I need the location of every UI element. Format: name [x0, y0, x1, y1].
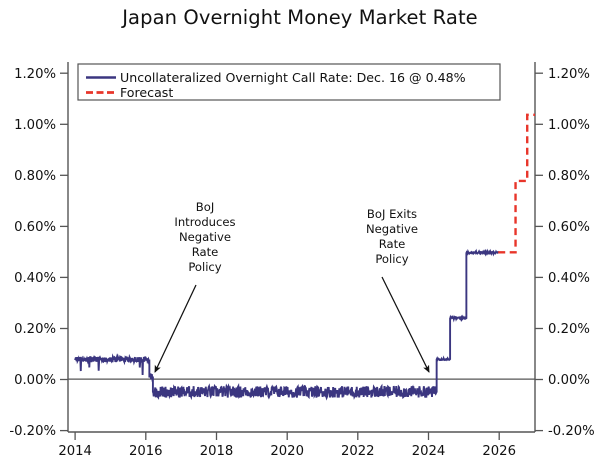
x-tick-label: 2020 — [270, 444, 304, 459]
annotation-line: Policy — [188, 260, 221, 274]
x-tick-label: 2014 — [58, 444, 92, 459]
x-tick-label: 2024 — [412, 444, 446, 459]
series-line-call-rate — [75, 252, 498, 398]
right-tick-label: 0.00% — [548, 373, 590, 388]
annotation-line: Introduces — [174, 215, 235, 229]
annotation-boj-introduces-negative-rate-policy: BoJ Introduces Negative Rate Policy — [155, 200, 236, 372]
left-tick-label: 0.80% — [14, 169, 56, 184]
annotation-arrow — [155, 285, 196, 372]
right-tick-label: 0.40% — [548, 271, 590, 286]
chart-container: Japan Overnight Money Market Rate — [0, 0, 600, 460]
annotation-line: BoJ — [196, 200, 214, 214]
annotation-line: Policy — [375, 252, 408, 266]
annotation-line: Rate — [192, 245, 219, 259]
right-tick-label: 0.20% — [548, 322, 590, 337]
annotation-line: Rate — [379, 237, 406, 251]
series-line-forecast — [498, 115, 535, 252]
bottom-axis-labels: 2014 2016 2018 2020 2022 2024 2026 — [58, 444, 516, 459]
annotation-line: Negative — [179, 230, 231, 244]
annotation-line: BoJ Exits — [367, 207, 417, 221]
right-tick-label: 0.80% — [548, 169, 590, 184]
left-tick-label: -0.20% — [9, 424, 56, 439]
right-tick-label: -0.20% — [548, 424, 595, 439]
axes-group — [68, 62, 535, 432]
left-tick-label: 1.00% — [14, 118, 56, 133]
annotation-line: Negative — [366, 222, 418, 236]
right-tick-marks — [535, 73, 543, 430]
left-tick-label: 0.40% — [14, 271, 56, 286]
x-tick-label: 2026 — [482, 444, 516, 459]
legend-label-call-rate: Uncollateralized Overnight Call Rate: De… — [120, 70, 466, 85]
x-tick-label: 2018 — [200, 444, 234, 459]
x-tick-label: 2016 — [129, 444, 163, 459]
legend-label-forecast: Forecast — [120, 85, 173, 100]
chart-plot: 1.20% 1.00% 0.80% 0.60% 0.40% 0.20% 0.00… — [0, 0, 600, 460]
right-tick-label: 1.20% — [548, 67, 590, 82]
chart-legend: Uncollateralized Overnight Call Rate: De… — [78, 64, 500, 100]
annotation-boj-exits-negative-rate-policy: BoJ Exits Negative Rate Policy — [366, 207, 429, 372]
left-tick-label: 0.20% — [14, 322, 56, 337]
annotation-arrow — [382, 277, 429, 372]
left-tick-label: 1.20% — [14, 67, 56, 82]
left-tick-marks — [60, 73, 68, 430]
bottom-tick-marks — [75, 432, 499, 440]
right-axis-labels: 1.20% 1.00% 0.80% 0.60% 0.40% 0.20% 0.00… — [548, 67, 595, 439]
left-tick-label: 0.60% — [14, 220, 56, 235]
right-tick-label: 1.00% — [548, 118, 590, 133]
left-tick-label: 0.00% — [14, 373, 56, 388]
right-tick-label: 0.60% — [548, 220, 590, 235]
x-tick-label: 2022 — [341, 444, 375, 459]
left-axis-labels: 1.20% 1.00% 0.80% 0.60% 0.40% 0.20% 0.00… — [9, 67, 56, 439]
